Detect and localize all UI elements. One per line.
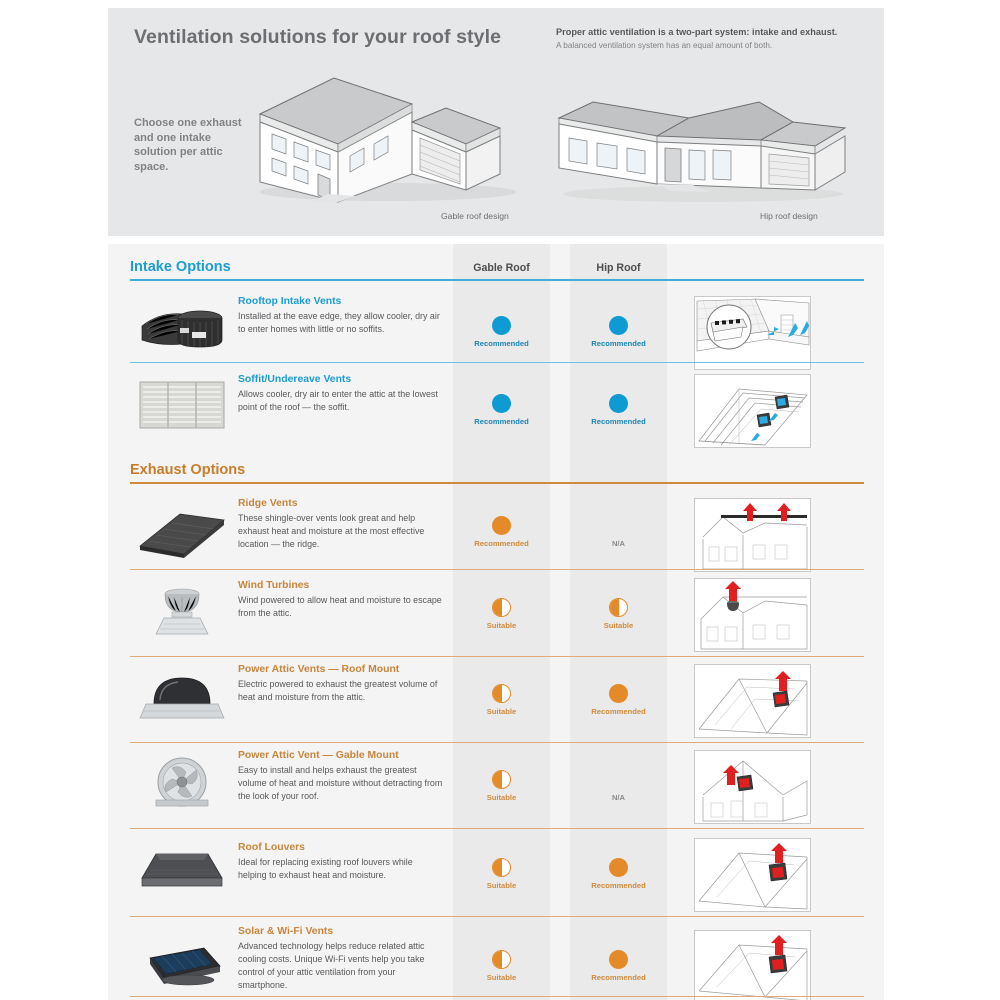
status-label: Suitable [570,622,667,630]
status-label: Recommended [453,540,550,548]
row-description: Installed at the eave edge, they allow c… [238,310,443,336]
row-description: These shingle-over vents look great and … [238,512,443,551]
product-thumbnail-power-attic-vents-roof-mount [134,666,230,728]
row-separator [130,916,864,917]
marker-recommended-icon [609,950,628,969]
product-thumbnail-wind-turbines [134,578,230,640]
status-cell-gable: Suitable [453,770,550,802]
status-label: Recommended [453,340,550,348]
status-cell-gable: Recommended [453,316,550,348]
product-thumbnail-solar-wifi-vents [134,932,230,994]
row-text: Power Attic Vents — Roof Mount Electric … [238,664,443,704]
diagram-solar-wifi-vents [694,930,811,1000]
row-separator [130,828,864,829]
status-cell-hip: Recommended [570,684,667,716]
diagram-wind-turbines [694,578,811,652]
diagram-power-attic-vent-gable-mount [694,750,811,824]
row-title: Roof Louvers [238,842,443,854]
status-cell-hip: N/A [570,770,667,802]
diagram-soffit-undereave-vents [694,374,811,448]
hero-note: Proper attic ventilation is a two-part s… [556,26,866,52]
status-label: Recommended [453,418,550,426]
status-cell-gable: Suitable [453,950,550,982]
options-table-panel: Gable Roof Hip Roof Intake Options [108,244,884,1000]
hero-note-strong: Proper attic ventilation is a two-part s… [556,26,866,38]
status-cell-hip: Recommended [570,394,667,426]
status-cell-hip: Recommended [570,950,667,982]
row-text: Solar & Wi-Fi Vents Advanced technology … [238,926,443,992]
row-description: Allows cooler, dry air to enter the atti… [238,388,443,414]
row-text: Wind Turbines Wind powered to allow heat… [238,580,443,620]
product-thumbnail-power-attic-vent-gable-mount [134,752,230,814]
diagram-roof-louvers [694,838,811,912]
status-label: Recommended [570,340,667,348]
marker-suitable-icon [492,858,511,877]
hero-banner: Ventilation solutions for your roof styl… [108,8,884,236]
status-label: Suitable [453,794,550,802]
status-label: Suitable [453,622,550,630]
row-title: Ridge Vents [238,498,443,510]
row-text: Soffit/Undereave Vents Allows cooler, dr… [238,374,443,414]
row-description: Advanced technology helps reduce related… [238,940,443,992]
status-cell-gable: Recommended [453,516,550,548]
caption-hip-roof: Hip roof design [760,211,818,221]
marker-suitable-icon [492,770,511,789]
status-label: Suitable [453,708,550,716]
marker-recommended-icon [492,516,511,535]
product-thumbnail-roof-louvers [134,840,230,902]
marker-suitable-icon [492,684,511,703]
page-title: Ventilation solutions for your roof styl… [134,26,501,49]
row-description: Easy to install and helps exhaust the gr… [238,764,443,803]
section-rule-exhaust [130,482,864,484]
caption-gable-roof: Gable roof design [441,211,509,221]
status-label: N/A [570,540,667,548]
status-cell-hip: Recommended [570,858,667,890]
hero-choose-text: Choose one exhaust and one intake soluti… [134,116,254,174]
row-description: Electric powered to exhaust the greatest… [238,678,443,704]
row-text: Power Attic Vent — Gable Mount Easy to i… [238,750,443,803]
hip-house-illustration [553,66,853,206]
section-rule-intake [130,279,864,281]
row-separator [130,742,864,743]
marker-recommended-icon [609,394,628,413]
row-text: Ridge Vents These shingle-over vents loo… [238,498,443,551]
status-cell-hip: N/A [570,516,667,548]
status-label: Recommended [570,708,667,716]
marker-recommended-icon [609,684,628,703]
row-separator [130,362,864,363]
product-thumbnail-soffit-undereave-vents [134,374,230,436]
status-cell-gable: Suitable [453,598,550,630]
status-cell-hip: Recommended [570,316,667,348]
status-label: Suitable [453,882,550,890]
status-label: N/A [570,794,667,802]
marker-suitable-icon [492,598,511,617]
status-cell-gable: Suitable [453,684,550,716]
row-title: Rooftop Intake Vents [238,296,443,308]
hero-note-sub: A balanced ventilation system has an equ… [556,40,866,51]
product-thumbnail-rooftop-intake-vents [134,296,230,358]
row-text: Roof Louvers Ideal for replacing existin… [238,842,443,882]
marker-suitable-icon [492,950,511,969]
section-header-intake: Intake Options [130,259,864,281]
gable-house-illustration [238,56,518,204]
marker-recommended-icon [609,316,628,335]
marker-recommended-icon [492,316,511,335]
row-title: Solar & Wi-Fi Vents [238,926,443,938]
row-title: Wind Turbines [238,580,443,592]
marker-recommended-icon [492,394,511,413]
row-title: Soffit/Undereave Vents [238,374,443,386]
status-cell-gable: Recommended [453,394,550,426]
row-separator [130,656,864,657]
diagram-rooftop-intake-vents [694,296,811,370]
marker-suitable-icon [609,598,628,617]
diagram-ridge-vents [694,498,811,572]
row-separator [130,996,864,997]
row-description: Ideal for replacing existing roof louver… [238,856,443,882]
row-title: Power Attic Vent — Gable Mount [238,750,443,762]
status-label: Suitable [453,974,550,982]
status-label: Recommended [570,882,667,890]
marker-recommended-icon [609,858,628,877]
row-text: Rooftop Intake Vents Installed at the ea… [238,296,443,336]
section-label-exhaust: Exhaust Options [130,462,864,482]
status-cell-hip: Suitable [570,598,667,630]
status-label: Recommended [570,974,667,982]
section-label-intake: Intake Options [130,259,864,279]
product-thumbnail-ridge-vents [134,500,230,562]
row-separator [130,569,864,570]
infographic-page: Ventilation solutions for your roof styl… [0,0,1000,1000]
diagram-power-attic-vents-roof-mount [694,664,811,738]
row-title: Power Attic Vents — Roof Mount [238,664,443,676]
status-cell-gable: Suitable [453,858,550,890]
status-label: Recommended [570,418,667,426]
row-description: Wind powered to allow heat and moisture … [238,594,443,620]
section-header-exhaust: Exhaust Options [130,462,864,484]
